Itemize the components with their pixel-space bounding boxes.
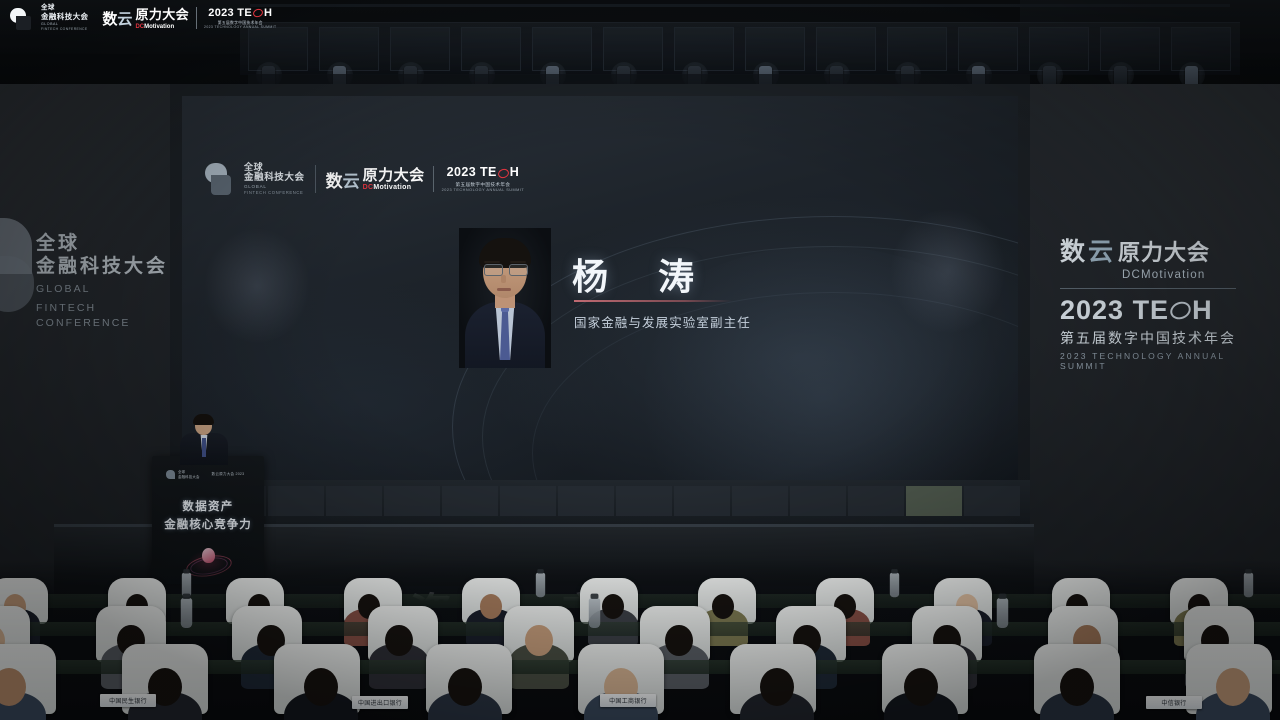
table-name-card: 中国民生银行 — [100, 694, 156, 707]
water-bottle — [589, 598, 600, 628]
podium-logo-right: 数云原力大会 2023 — [212, 472, 245, 477]
person-head — [385, 625, 413, 656]
audience-person — [1040, 668, 1114, 720]
band-cell — [326, 486, 382, 516]
person-head — [304, 668, 338, 706]
audience-person — [740, 668, 814, 720]
audience-person — [0, 668, 46, 720]
band-cell — [790, 486, 846, 516]
right-wall-divider — [1060, 288, 1236, 289]
right-wall-tech-b: H — [1192, 295, 1213, 326]
header-divider — [196, 7, 197, 29]
left-wall-en-line1: GLOBAL — [36, 282, 186, 297]
header-center-logo: 数 云 原力大会 DCMotivation — [102, 7, 189, 30]
podium-title-line2: 金融核心竞争力 — [152, 516, 264, 532]
dc-red: DC — [363, 184, 374, 191]
header-dcmotivation: DCMotivation — [135, 24, 189, 30]
stage-lower-band — [170, 480, 1030, 524]
ring-icon — [497, 167, 510, 179]
podium-logo-cn2: 金融科技大会 — [178, 475, 200, 479]
fintech-logo-mark-icon — [166, 470, 175, 479]
speaker-name: 杨 涛 — [572, 248, 714, 300]
right-wall-signage: 数 云 原力大会 DCMotivation 2023 TE H 第五届数字中国技… — [1060, 232, 1240, 371]
fintech-logo-mark-icon — [205, 163, 237, 195]
right-wall-shu: 数 — [1060, 232, 1086, 268]
water-bottle — [536, 573, 545, 597]
right-wall-summit-cn: 第五届数字中国技术年会 — [1060, 328, 1240, 348]
left-wall-cn-line2: 金融科技大会 — [36, 255, 186, 278]
screen-nebula — [888, 206, 1008, 336]
screen-tech-lockup: 2023 TE H — [442, 166, 525, 180]
logo-divider — [433, 166, 434, 192]
screen-yun: 云 — [343, 167, 360, 192]
band-cell — [964, 486, 1020, 516]
audience-person — [884, 668, 958, 720]
fintech-logo-mark-icon — [10, 6, 35, 31]
water-bottle — [890, 573, 899, 597]
band-cell — [384, 486, 440, 516]
header-yuanli: 原力大会 — [135, 7, 189, 22]
header-shu: 数 — [102, 8, 117, 29]
band-cell — [674, 486, 730, 516]
left-wall-signage: 全球 金融科技大会 GLOBAL FINTECH CONFERENCE — [36, 232, 186, 331]
conference-stage-scene: 全球 金融科技大会 GLOBAL FINTECH CONFERENCE 数 云 … — [0, 0, 1280, 720]
screen-dcmotivation: DCMotivation — [363, 184, 425, 191]
person-head — [525, 625, 553, 656]
header-en2: FINTECH CONFERENCE — [41, 28, 88, 32]
person-head — [760, 668, 794, 706]
band-cell — [732, 486, 788, 516]
dc-white: Motivation — [373, 184, 411, 191]
screen-logo-cn2: 金融科技大会 — [244, 173, 305, 183]
screen-logo-center: 数 云 原力大会 DCMotivation — [326, 167, 425, 192]
audience-area: 中国民生银行中国进出口银行中国工商银行中信银行 — [0, 560, 1280, 720]
header-yun: 云 — [117, 8, 132, 29]
speaker-portrait — [459, 228, 551, 368]
screen-logo-right: 2023 TE H 第五届数字中国技术年会 2023 TECHNOLOGY AN… — [442, 166, 525, 192]
screen-logo-en2: FINTECH CONFERENCE — [244, 191, 305, 195]
table-name-card-label: 中信银行 — [1161, 698, 1186, 707]
right-wall-summit-en: 2023 TECHNOLOGY ANNUAL SUMMIT — [1060, 351, 1240, 371]
band-cell — [268, 486, 324, 516]
podium-speaker — [178, 416, 230, 462]
header-cn2: 金融科技大会 — [41, 13, 88, 21]
right-wall-dcmotivation: DCMotivation — [1122, 269, 1240, 281]
screen-logo-left-text: 全球 金融科技大会 GLOBAL FINTECH CONFERENCE — [244, 163, 305, 196]
person-head — [665, 625, 693, 656]
screen-summit-en: 2023 TECHNOLOGY ANNUAL SUMMIT — [442, 188, 525, 192]
header-right-badge: 2023 TE H 第五届数字中国技术年会 2023 TECHNOLOGY AN… — [204, 7, 276, 30]
left-wall-cn-line1: 全球 — [36, 232, 186, 255]
header-left-logo-text: 全球 金融科技大会 GLOBAL FINTECH CONFERENCE — [41, 4, 88, 31]
ring-icon — [1168, 299, 1194, 323]
dc-red: DC — [135, 24, 144, 30]
header-tech-b: H — [264, 7, 272, 19]
screen-logo-lockup: 全球 金融科技大会 GLOBAL FINTECH CONFERENCE 数 云 … — [205, 163, 524, 196]
table-name-card: 中国工商银行 — [600, 694, 656, 707]
right-wall-tech-lockup: 2023 TE H — [1060, 295, 1240, 326]
glasses-icon — [484, 264, 526, 274]
audience-person — [284, 668, 358, 720]
right-wall-yuanli: 原力大会 — [1118, 235, 1210, 267]
broadcast-header-overlay: 全球 金融科技大会 GLOBAL FINTECH CONFERENCE 数 云 … — [0, 0, 1280, 36]
band-cell — [558, 486, 614, 516]
person-head — [1060, 668, 1094, 706]
screen-shu: 数 — [326, 167, 343, 192]
band-cell — [616, 486, 672, 516]
header-cn1: 全球 — [41, 4, 88, 11]
water-bottle — [181, 598, 192, 628]
band-cell — [442, 486, 498, 516]
water-bottle — [997, 598, 1008, 628]
table-name-card: 中信银行 — [1146, 696, 1202, 709]
right-wall-tech-a: 2023 TE — [1060, 295, 1169, 326]
screen-tech-b: H — [510, 166, 519, 180]
table-name-card-label: 中国民生银行 — [109, 696, 147, 705]
header-tech-lockup: 2023 TE H — [204, 7, 276, 19]
screen-tech-a: 2023 TE — [447, 166, 497, 180]
ring-icon — [252, 7, 264, 18]
podium-title-line1: 数据资产 — [152, 498, 264, 514]
right-wall-yun: 云 — [1088, 232, 1114, 268]
table-name-card-label: 中国进出口银行 — [358, 698, 402, 707]
speaker-name-underline — [574, 300, 732, 302]
header-summit-en: 2023 TECHNOLOGY ANNUAL SUMMIT — [204, 26, 276, 30]
screen-yuanli: 原力大会 — [363, 167, 425, 184]
band-cell — [848, 486, 904, 516]
table-name-card-label: 中国工商银行 — [609, 696, 647, 705]
left-wall-en-line2: FINTECH CONFERENCE — [36, 301, 186, 331]
screen-summit-cn: 第五届数字中国技术年会 — [442, 182, 525, 187]
speaker-title: 国家金融与发展实验室副主任 — [574, 312, 751, 331]
podium-logo: 全球 金融科技大会 数云原力大会 2023 — [166, 470, 244, 479]
screen-nebula — [202, 226, 312, 346]
audience-person — [428, 668, 502, 720]
water-bottle — [1244, 573, 1253, 597]
podium-title: 数据资产 金融核心竞争力 — [152, 498, 264, 532]
table-name-card: 中国进出口银行 — [352, 696, 408, 709]
person-head — [448, 668, 482, 706]
band-cell — [906, 486, 962, 516]
person-head — [904, 668, 938, 706]
band-cell — [500, 486, 556, 516]
audience-person — [1196, 668, 1270, 720]
header-tech-a: 2023 TE — [208, 7, 252, 19]
dc-white: Motivation — [144, 24, 174, 30]
person-head — [1216, 668, 1250, 706]
logo-divider — [315, 165, 316, 193]
